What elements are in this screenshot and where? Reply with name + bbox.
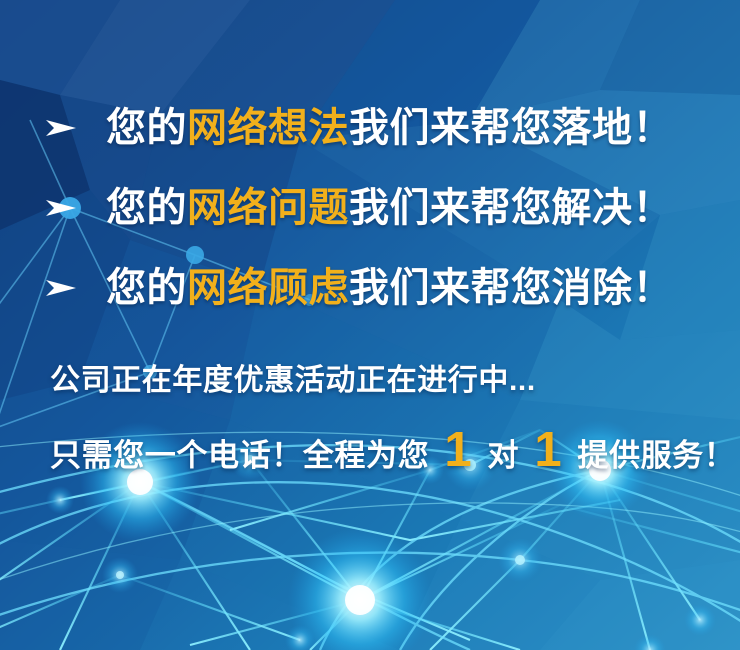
promo-sub-line-1: 公司正在年度优惠活动正在进行中... (50, 361, 536, 401)
line1-seg1: 您的 (106, 106, 187, 150)
bullet-line-2-text: 您的网络问题我们来帮您解决！ (106, 184, 673, 232)
line1-seg2-highlight: 网络想法 (187, 106, 349, 150)
line2-seg1: 您的 (106, 186, 187, 230)
promo-sub-line-2: 只需您一个电话！全程为您 1 对 1 提供服务！ (50, 427, 735, 479)
bullet-line-1-text: 您的网络想法我们来帮您落地！ (106, 104, 673, 152)
sub2-number-first: 1 (438, 427, 478, 473)
bullet-line-2: 您的网络问题我们来帮您解决！ (44, 184, 673, 232)
line3-seg1: 您的 (106, 266, 187, 310)
sub2-part-c: 提供服务！ (568, 433, 735, 479)
arrow-right-icon (44, 273, 78, 303)
line1-seg3: 我们来帮您落地！ (349, 106, 673, 150)
line2-seg3: 我们来帮您解决！ (349, 186, 673, 230)
line3-seg3: 我们来帮您消除！ (349, 266, 673, 310)
line2-seg2-highlight: 网络问题 (187, 186, 349, 230)
banner-text-block: 您的网络想法我们来帮您落地！ 您的网络问题我们来帮您解决！ 您的网络顾虑我们来帮… (0, 0, 740, 650)
arrow-right-icon (44, 193, 78, 223)
bullet-line-3: 您的网络顾虑我们来帮您消除！ (44, 264, 673, 312)
sub2-part-a: 只需您一个电话！全程为您 (50, 433, 438, 479)
line3-seg2-highlight: 网络顾虑 (187, 266, 349, 310)
bullet-line-3-text: 您的网络顾虑我们来帮您消除！ (106, 264, 673, 312)
sub2-number-second: 1 (528, 427, 568, 473)
promo-banner: 您的网络想法我们来帮您落地！ 您的网络问题我们来帮您解决！ 您的网络顾虑我们来帮… (0, 0, 740, 650)
bullet-line-1: 您的网络想法我们来帮您落地！ (44, 104, 673, 152)
arrow-right-icon (44, 113, 78, 143)
sub2-part-b: 对 (478, 433, 528, 479)
